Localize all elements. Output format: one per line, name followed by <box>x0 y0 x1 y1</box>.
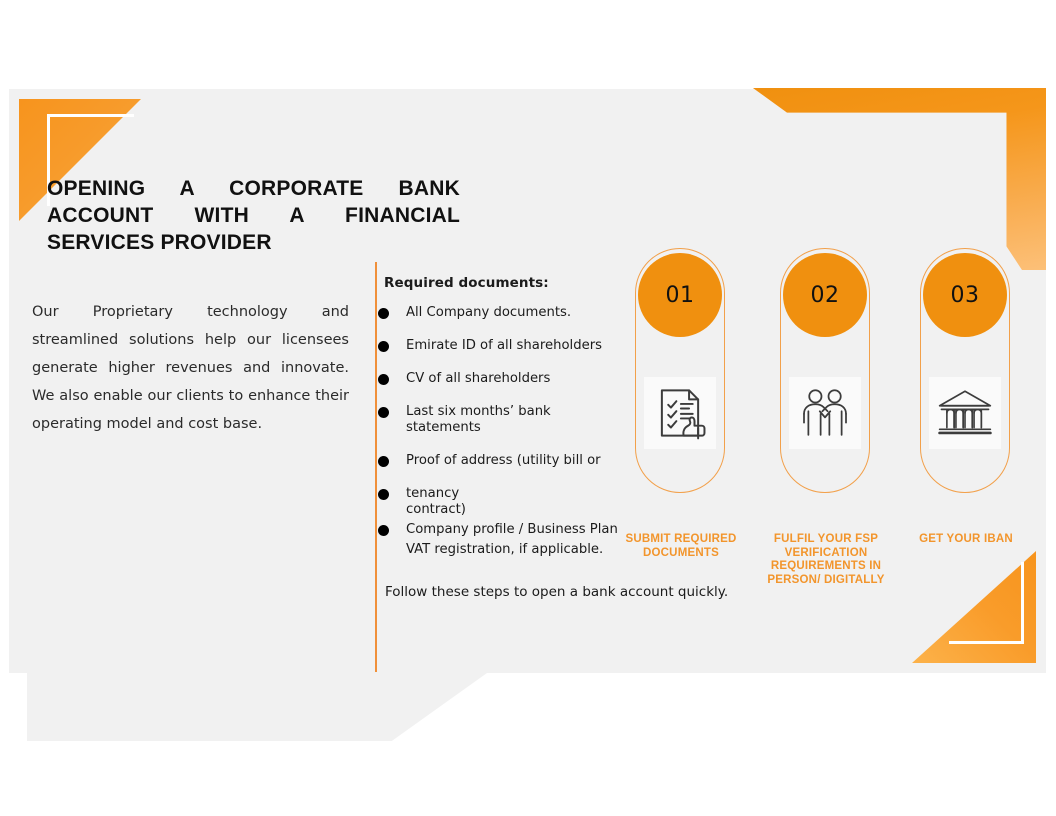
step-card-2[interactable]: 02 F <box>780 248 872 493</box>
step-3-number-badge: 03 <box>923 253 1007 337</box>
handshake-people-icon <box>789 377 861 449</box>
required-document-label: tenancy contract) <box>406 486 466 517</box>
vertical-divider <box>375 262 377 672</box>
page-title: OPENING A CORPORATE BANK ACCOUNT WITH A … <box>47 175 460 256</box>
required-document-label: CV of all shareholders <box>406 371 550 386</box>
required-document-item: Emirate ID of all shareholders <box>378 338 628 354</box>
bottom-right-accent-line-horizontal <box>949 641 1024 644</box>
required-document-item: Proof of address (utility bill or <box>378 453 628 469</box>
step-3-pill-outline: 03 <box>920 248 1010 493</box>
step-3-caption: GET YOUR IBAN <box>906 533 1026 547</box>
required-document-label: VAT registration, if applicable. <box>406 542 603 557</box>
bullet-dot-icon <box>378 407 389 418</box>
steps-container: 01 S <box>630 248 1040 588</box>
required-document-label: Emirate ID of all shareholders <box>406 338 602 353</box>
checklist-document-icon <box>644 377 716 449</box>
slide-canvas: OPENING A CORPORATE BANK ACCOUNT WITH A … <box>0 0 1056 816</box>
required-document-label: Last six months’ bank statements <box>406 404 551 435</box>
bullet-dot-icon <box>378 525 389 536</box>
required-document-item: VAT registration, if applicable. <box>378 542 628 558</box>
required-document-item: tenancy contract) <box>378 486 628 518</box>
bullet-dot-icon <box>378 374 389 385</box>
bullet-dot-icon <box>378 489 389 500</box>
bank-building-icon <box>929 377 1001 449</box>
step-2-caption: FULFIL YOUR FSP VERIFICATION REQUIREMENT… <box>766 533 886 587</box>
required-documents-list: All Company documents.Emirate ID of all … <box>378 305 628 573</box>
required-document-item: All Company documents. <box>378 305 628 321</box>
lower-panel-background <box>27 673 487 741</box>
step-card-1[interactable]: 01 S <box>635 248 727 493</box>
step-2-pill-outline: 02 <box>780 248 870 493</box>
required-documents-title: Required documents: <box>384 275 549 291</box>
step-1-caption: SUBMIT REQUIRED DOCUMENTS <box>621 533 741 560</box>
top-left-accent-line-horizontal <box>47 114 134 117</box>
step-2-number-badge: 02 <box>783 253 867 337</box>
intro-paragraph: Our Proprietary technology and streamlin… <box>32 298 349 438</box>
required-document-item: Last six months’ bank statements <box>378 404 628 436</box>
step-1-pill-outline: 01 <box>635 248 725 493</box>
required-document-item: Company profile / Business Plan <box>378 522 628 538</box>
required-document-label: All Company documents. <box>406 305 571 320</box>
step-card-3[interactable]: 03 <box>920 248 1012 493</box>
bullet-dot-icon <box>378 456 389 467</box>
required-document-label: Proof of address (utility bill or <box>406 453 601 468</box>
required-document-label: Company profile / Business Plan <box>406 522 618 537</box>
bullet-dot-icon <box>378 308 389 319</box>
bullet-dot-icon <box>378 341 389 352</box>
required-document-item: CV of all shareholders <box>378 371 628 387</box>
step-1-number-badge: 01 <box>638 253 722 337</box>
